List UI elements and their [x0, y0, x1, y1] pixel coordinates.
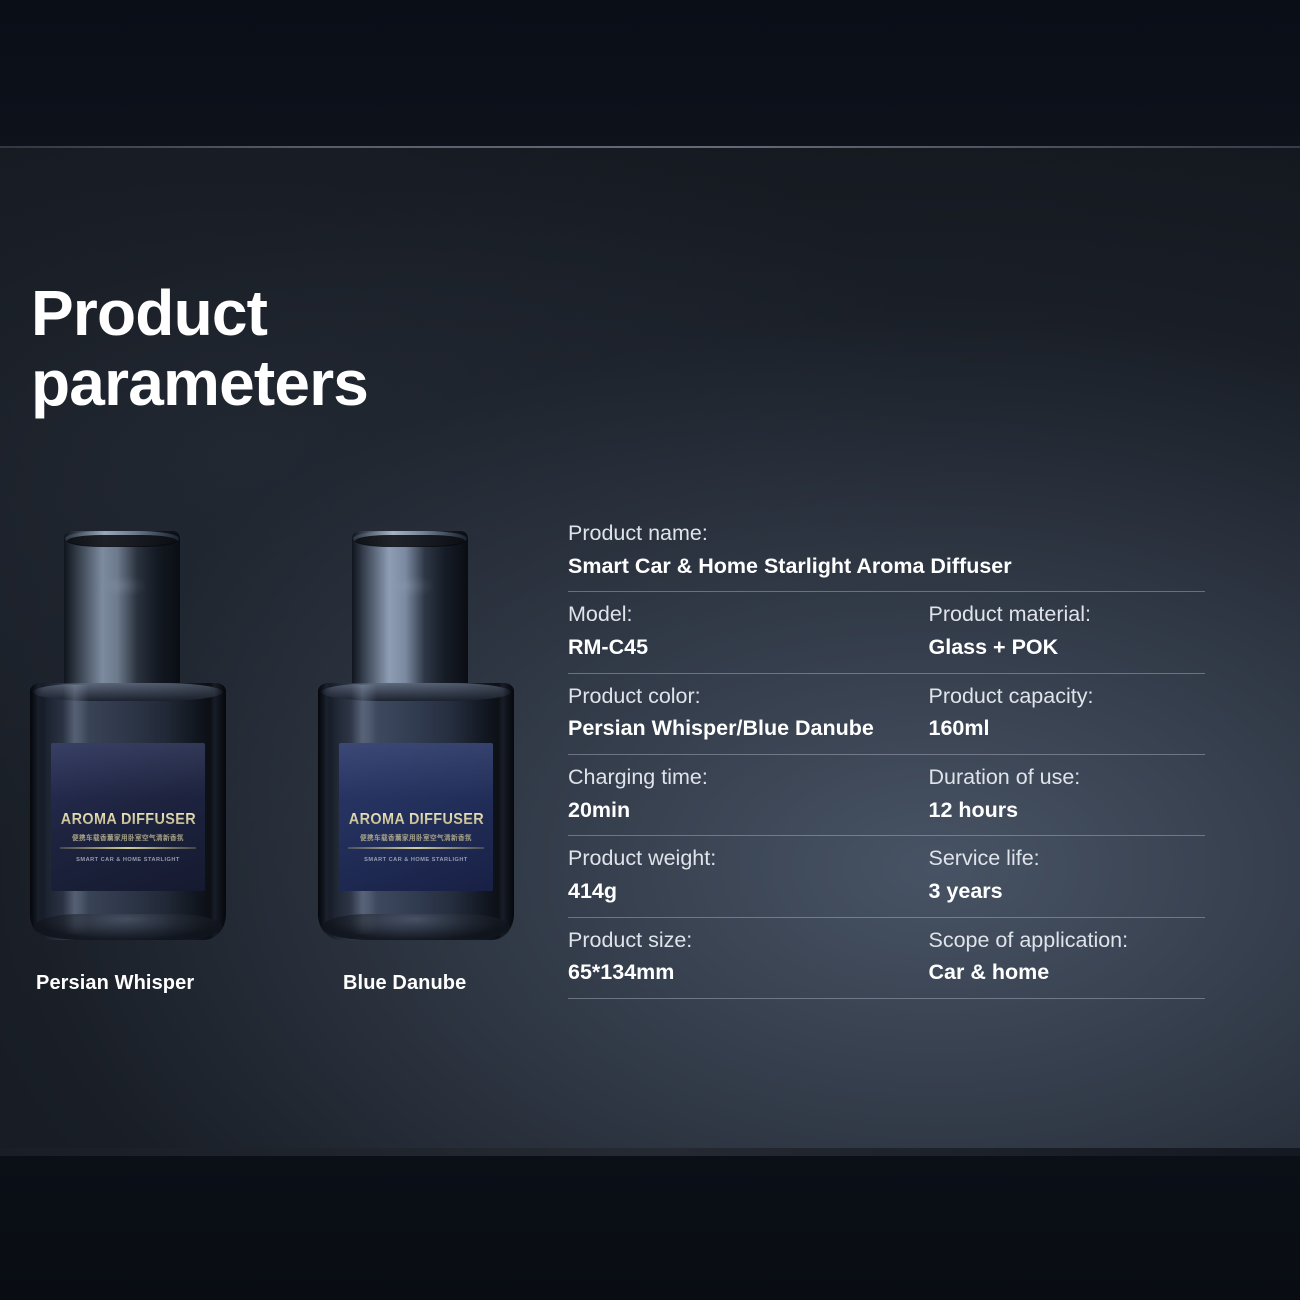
cap-logo-emboss-icon	[387, 576, 433, 596]
cap-logo-emboss-icon	[99, 576, 145, 596]
bottle-edge-left	[318, 683, 331, 940]
bottom-band-sheen	[0, 1148, 1300, 1156]
bottle-cap	[64, 531, 180, 689]
bottle-body: AROMA DIFFUSER 便携车载香薰家用卧室空气清新香氛 SMART CA…	[318, 683, 514, 940]
bottle-edge-left	[30, 683, 43, 940]
spec-row-weight-service-life: Product weight: 414g Service life: 3 yea…	[568, 836, 1205, 917]
bottle-label: AROMA DIFFUSER 便携车载香薰家用卧室空气清新香氛 SMART CA…	[339, 743, 494, 891]
product-caption-blue-danube: Blue Danube	[343, 972, 466, 995]
spec-label: Model:	[568, 598, 877, 631]
spec-value: 20min	[568, 794, 877, 827]
label-sheen	[51, 743, 206, 799]
spec-cell: Product capacity: 160ml	[887, 680, 1206, 745]
bottle-base	[34, 914, 222, 940]
spec-table: Product name: Smart Car & Home Starlight…	[568, 513, 1205, 999]
spec-cell: Product color: Persian Whisper/Blue Danu…	[568, 680, 887, 745]
page-title-line-2: parameters	[31, 349, 651, 419]
spec-cell: Charging time: 20min	[568, 761, 887, 826]
spec-value: 65*134mm	[568, 956, 877, 989]
spec-row-model-material: Model: RM-C45 Product material: Glass + …	[568, 592, 1205, 673]
label-subtitle-cn: 便携车载香薰家用卧室空气清新香氛	[339, 832, 494, 842]
spec-cell: Scope of application: Car & home	[887, 924, 1206, 989]
spec-value: Car & home	[929, 956, 1196, 989]
spec-cell: Product weight: 414g	[568, 842, 887, 907]
spec-value: Persian Whisper/Blue Danube	[568, 712, 877, 745]
label-subtitle-cn: 便携车载香薰家用卧室空气清新香氛	[51, 832, 206, 842]
spec-label: Product capacity:	[929, 680, 1196, 713]
spec-cell: Product material: Glass + POK	[887, 598, 1206, 663]
bottle-shoulder	[33, 683, 223, 701]
spec-label: Product name:	[568, 517, 1195, 550]
label-title: AROMA DIFFUSER	[344, 811, 488, 829]
spec-cell: Product name: Smart Car & Home Starlight…	[568, 517, 1205, 582]
cap-surface	[64, 531, 180, 689]
spec-label: Service life:	[929, 842, 1196, 875]
label-divider-rule	[348, 847, 484, 849]
spec-row-charging-duration: Charging time: 20min Duration of use: 12…	[568, 755, 1205, 836]
spec-value: Smart Car & Home Starlight Aroma Diffuse…	[568, 550, 1195, 583]
spec-row-color-capacity: Product color: Persian Whisper/Blue Danu…	[568, 674, 1205, 755]
spec-row-product-name: Product name: Smart Car & Home Starlight…	[568, 513, 1205, 592]
spec-cell: Product size: 65*134mm	[568, 924, 887, 989]
bottle-shoulder	[321, 683, 511, 701]
spec-label: Duration of use:	[929, 761, 1196, 794]
bottle-label: AROMA DIFFUSER 便携车载香薰家用卧室空气清新香氛 SMART CA…	[51, 743, 206, 891]
page-title: Product parameters	[31, 279, 651, 419]
product-image-blue-danube: AROMA DIFFUSER 便携车载香薰家用卧室空气清新香氛 SMART CA…	[318, 531, 514, 940]
spec-value: 12 hours	[929, 794, 1196, 827]
cap-surface	[352, 531, 468, 689]
spec-label: Scope of application:	[929, 924, 1196, 957]
product-parameters-slide: Product parameters AROMA DIFFUSER 便携车载香薰…	[0, 0, 1300, 1300]
bottle-base	[322, 914, 510, 940]
bottle-body: AROMA DIFFUSER 便携车载香薰家用卧室空气清新香氛 SMART CA…	[30, 683, 226, 940]
spec-value: Glass + POK	[929, 631, 1196, 664]
label-title: AROMA DIFFUSER	[56, 811, 200, 829]
bottle-edge-right	[210, 683, 226, 940]
bottle-cap	[352, 531, 468, 689]
product-caption-persian-whisper: Persian Whisper	[36, 972, 194, 995]
label-subtitle-en: SMART CAR & HOME STARLIGHT	[339, 857, 494, 863]
spec-label: Product weight:	[568, 842, 877, 875]
bottle-edge-right	[498, 683, 514, 940]
label-divider-rule	[60, 847, 196, 849]
label-subtitle-en: SMART CAR & HOME STARLIGHT	[51, 857, 206, 863]
spec-value: 414g	[568, 875, 877, 908]
spec-cell: Duration of use: 12 hours	[887, 761, 1206, 826]
spec-cell: Service life: 3 years	[887, 842, 1206, 907]
spec-label: Charging time:	[568, 761, 877, 794]
spec-value: 160ml	[929, 712, 1196, 745]
page-title-line-1: Product	[31, 277, 267, 349]
spec-row-size-scope: Product size: 65*134mm Scope of applicat…	[568, 918, 1205, 999]
top-band	[0, 0, 1300, 147]
cap-rim-inner	[355, 535, 464, 547]
label-sheen	[339, 743, 494, 799]
spec-label: Product color:	[568, 680, 877, 713]
spec-label: Product size:	[568, 924, 877, 957]
spec-value: 3 years	[929, 875, 1196, 908]
product-image-persian-whisper: AROMA DIFFUSER 便携车载香薰家用卧室空气清新香氛 SMART CA…	[30, 531, 226, 940]
spec-value: RM-C45	[568, 631, 877, 664]
spec-label: Product material:	[929, 598, 1196, 631]
spec-cell: Model: RM-C45	[568, 598, 887, 663]
bottom-band	[0, 1148, 1300, 1300]
cap-rim-inner	[67, 535, 176, 547]
